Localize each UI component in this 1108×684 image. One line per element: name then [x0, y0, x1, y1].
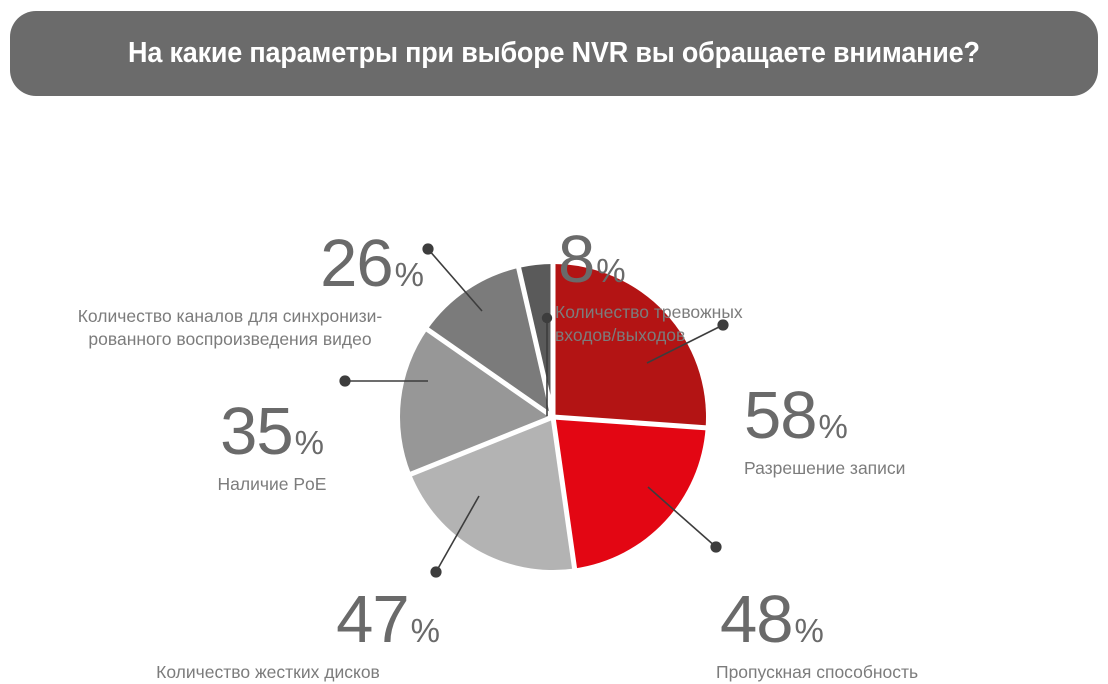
callout-channels-value: 26 [320, 232, 393, 296]
callout-bandwidth-label: Пропускная способность [716, 661, 918, 684]
callout-bandwidth-value-row: 48 % [716, 588, 918, 652]
leader-dot-alarm [542, 313, 552, 323]
callout-channels-label: Количество каналов для синхронизи- рован… [28, 305, 432, 351]
leader-dot-bandwidth [710, 541, 721, 552]
percent-sign-icon: % [411, 614, 440, 647]
callout-hdd-value-row: 47 % [92, 588, 444, 652]
page-title: На какие параметры при выборе NVR вы обр… [128, 37, 980, 70]
callout-alarm-label: Количество тревожных входов/выходов [555, 301, 743, 347]
callout-hdd: 47 % Количество жестких дисков [92, 588, 444, 684]
callout-bandwidth-value: 48 [720, 588, 793, 652]
percent-sign-icon: % [395, 258, 424, 291]
callout-poe: 35 % Наличие PoE [196, 400, 348, 496]
callout-hdd-label: Количество жестких дисков [92, 661, 444, 684]
pie-slice-bandwidth[interactable] [553, 417, 706, 568]
callout-resolution-value: 58 [744, 384, 817, 448]
callout-channels-value-row: 26 % [28, 232, 432, 296]
callout-poe-value: 35 [220, 400, 293, 464]
pie-chart-area: 8 % Количество тревожных входов/выходов … [0, 96, 1108, 630]
callout-channels: 26 % Количество каналов для синхронизи- … [28, 232, 432, 351]
callout-alarm-value-row: 8 % [555, 228, 743, 292]
leader-dot-poe [339, 375, 350, 386]
callout-bandwidth: 48 % Пропускная способность [716, 588, 918, 684]
spacer [92, 652, 444, 661]
percent-sign-icon: % [596, 254, 625, 287]
callout-poe-value-row: 35 % [196, 400, 348, 464]
title-banner: На какие параметры при выборе NVR вы обр… [10, 11, 1098, 96]
leader-dot-hdd [430, 566, 441, 577]
callout-resolution-label: Разрешение записи [744, 457, 905, 480]
percent-sign-icon: % [295, 426, 324, 459]
callout-resolution: 58 % Разрешение записи [744, 384, 905, 480]
percent-sign-icon: % [795, 614, 824, 647]
spacer [716, 652, 918, 661]
percent-sign-icon: % [819, 410, 848, 443]
pie-chart-svg [0, 96, 1108, 630]
callout-hdd-value: 47 [336, 588, 409, 652]
callout-alarm-value: 8 [558, 228, 594, 292]
callout-alarm: 8 % Количество тревожных входов/выходов [555, 228, 743, 347]
callout-resolution-value-row: 58 % [744, 384, 905, 448]
callout-poe-label: Наличие PoE [196, 473, 348, 496]
